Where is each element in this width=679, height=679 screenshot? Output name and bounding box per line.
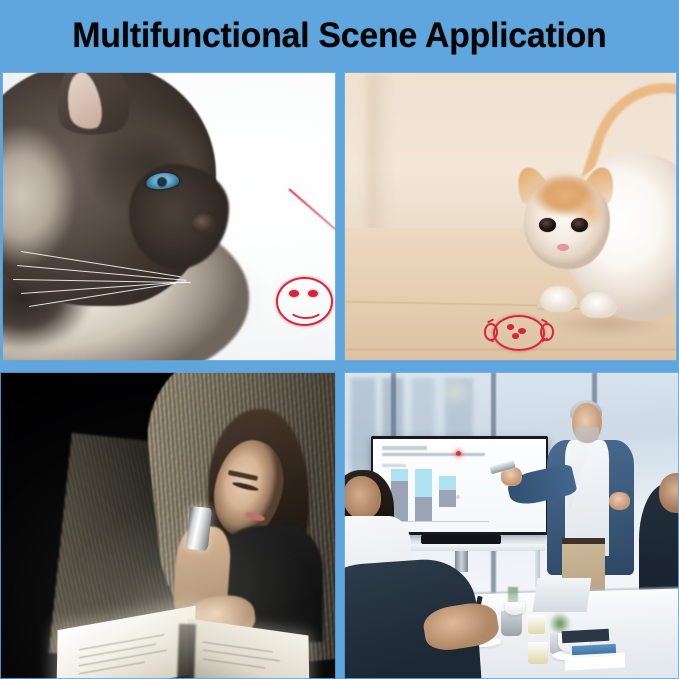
girl-reading-photo (0, 372, 336, 679)
presenter-beard (575, 427, 598, 442)
slide-title-placeholder (382, 446, 427, 450)
wall-edge (367, 72, 390, 234)
drinking-glass (528, 615, 545, 635)
closed-notebook (561, 629, 608, 644)
attendee-left-head (344, 476, 381, 519)
cat-whiskers (9, 240, 216, 338)
slide-subtitle-placeholder (382, 453, 485, 456)
laser-beam (289, 188, 336, 255)
panel-siamese-cat (2, 72, 336, 361)
coffee-cup (505, 602, 525, 614)
chart-bar (439, 469, 456, 521)
chart-bar-stem (439, 490, 456, 507)
scene-grid (0, 72, 679, 679)
page-title: Multifunctional Scene Application (72, 17, 606, 55)
boardroom-presentation-photo (344, 372, 679, 679)
background-plant (428, 372, 482, 409)
panel-reading-under-blanket (0, 372, 336, 679)
drinking-glass (528, 642, 548, 663)
panel-ginger-kitten (344, 72, 677, 361)
chart-bar-cap (415, 469, 432, 497)
chart-bar (415, 469, 432, 521)
chart-bar-stem (415, 497, 432, 521)
siamese-cat-photo (2, 72, 336, 361)
ginger-kitten-photo (344, 72, 677, 361)
poster-header: Multifunctional Scene Application (0, 0, 679, 72)
kitten-paw (540, 286, 577, 312)
slide-axis-label-placeholder (382, 464, 406, 466)
table-vase (501, 611, 521, 636)
smiley-eye-left (289, 290, 299, 297)
laser-smiley-projection (276, 277, 333, 326)
crab-spot (512, 333, 519, 339)
crab-spot (518, 328, 525, 334)
smiley-eye-right (308, 290, 318, 297)
laser-crab-projection (484, 315, 551, 347)
chart-bar-cap (439, 476, 456, 491)
panel-boardroom-presentation (344, 372, 679, 679)
display-stand (421, 535, 501, 544)
vignette-overlay (0, 372, 336, 679)
crab-spot (507, 324, 514, 330)
screen-marker-dot (456, 495, 460, 499)
kitten-paw (580, 292, 617, 318)
product-poster: Multifunctional Scene Application (0, 0, 679, 679)
presenter-second-hand (609, 492, 631, 510)
presenter-belt (562, 538, 606, 544)
